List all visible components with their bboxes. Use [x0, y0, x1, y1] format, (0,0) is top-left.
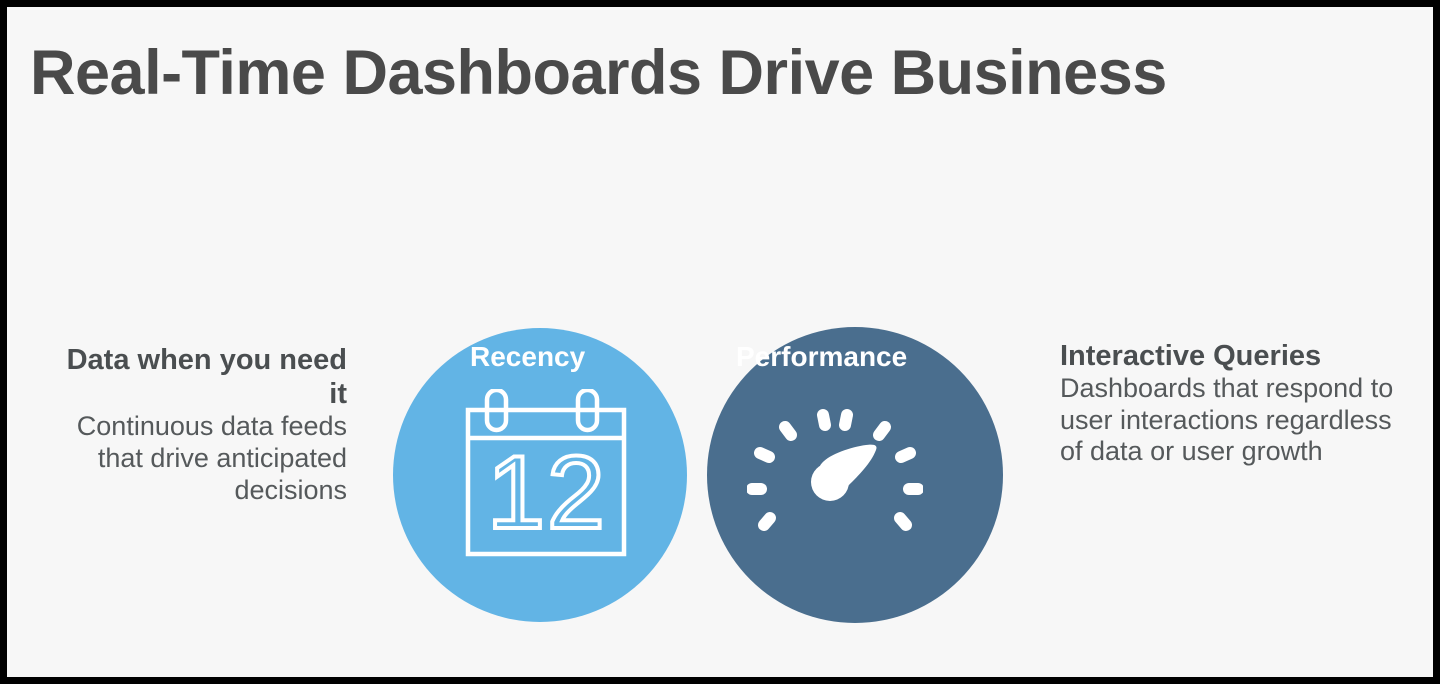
- page-title: Real-Time Dashboards Drive Business: [30, 40, 1370, 106]
- right-heading: Interactive Queries: [1060, 339, 1410, 373]
- right-text-block: Interactive Queries Dashboards that resp…: [1060, 339, 1410, 468]
- gauge-icon: [747, 403, 923, 553]
- calendar-day-number: 12: [487, 435, 607, 551]
- left-heading: Data when you need it: [51, 343, 347, 411]
- calendar-icon: 12: [459, 389, 635, 561]
- slide-frame: Real-Time Dashboards Drive Business Data…: [0, 0, 1440, 684]
- venn-label-performance: Performance: [736, 341, 907, 373]
- right-body: Dashboards that respond to user interact…: [1060, 373, 1410, 468]
- left-body: Continuous data feeds that drive anticip…: [51, 411, 347, 506]
- left-text-block: Data when you need it Continuous data fe…: [51, 343, 347, 506]
- venn-label-recency: Recency: [470, 341, 585, 373]
- slide-canvas: Real-Time Dashboards Drive Business Data…: [7, 7, 1433, 677]
